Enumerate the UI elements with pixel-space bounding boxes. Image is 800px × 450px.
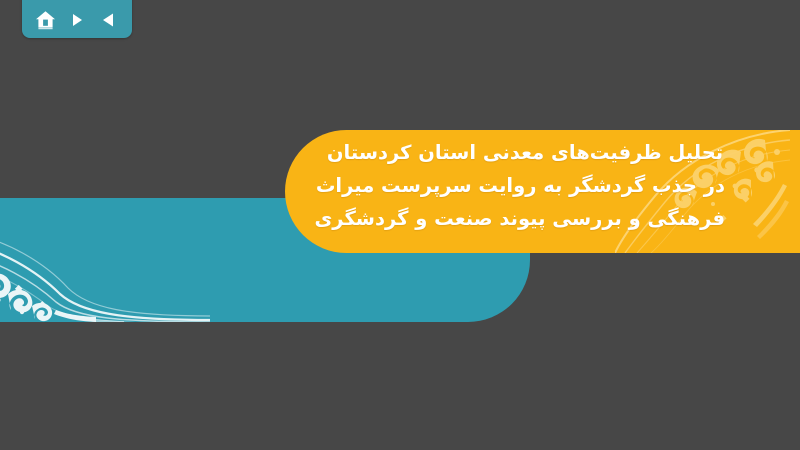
orange-headline-banner: تحلیل ظرفیت‌های معدنی استان کردستان در ج… [285, 130, 800, 253]
headline-line-2: در جذب گردشگر به روایت سرپرست میراث [325, 169, 725, 202]
back-arrow-icon [100, 11, 118, 29]
headline-line-3: فرهنگی و بررسی پیوند صنعت و گردشگری [325, 202, 725, 235]
home-button[interactable] [32, 8, 58, 32]
headline-text: تحلیل ظرفیت‌های معدنی استان کردستان در ج… [325, 136, 725, 235]
navigation-bar [22, 0, 132, 38]
forward-button[interactable] [64, 8, 90, 32]
home-icon [35, 10, 56, 30]
forward-arrow-icon [68, 11, 86, 29]
headline-line-1: تحلیل ظرفیت‌های معدنی استان کردستان [325, 136, 725, 169]
arabesque-corner-ornament [0, 202, 210, 322]
back-button[interactable] [96, 8, 122, 32]
slide-canvas: تحلیل ظرفیت‌های معدنی استان کردستان در ج… [0, 0, 800, 450]
